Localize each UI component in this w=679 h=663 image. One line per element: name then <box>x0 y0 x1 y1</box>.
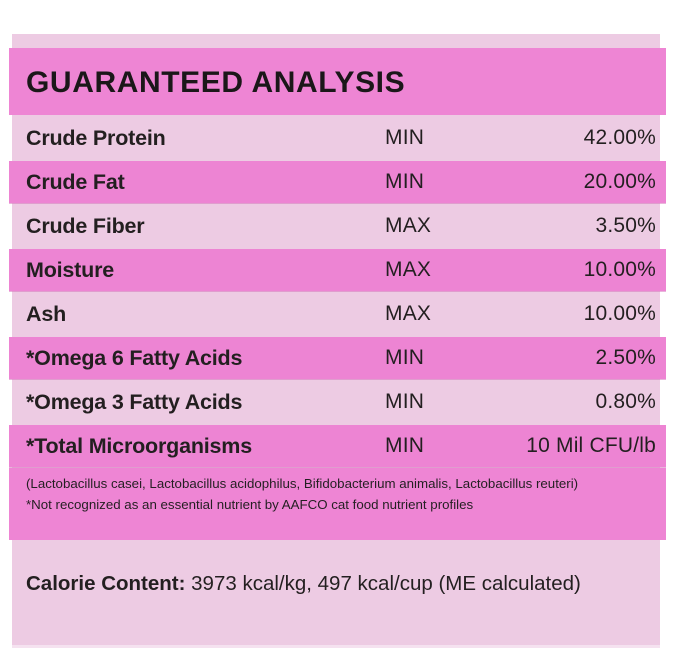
nutrient-qualifier: MAX <box>385 258 431 282</box>
page-title: GUARANTEED ANALYSIS <box>26 66 405 100</box>
nutrient-qualifier: MIN <box>385 390 424 414</box>
nutrient-amount: 2.50% <box>595 346 656 370</box>
nutrient-qualifier: MIN <box>385 170 424 194</box>
calorie-content-value: 3973 kcal/kg, 497 kcal/cup (ME calculate… <box>191 572 581 595</box>
panel-bottom-edge <box>12 645 662 649</box>
nutrient-name: Moisture <box>26 258 114 283</box>
nutrient-amount: 42.00% <box>584 126 656 150</box>
guaranteed-analysis-label: GUARANTEED ANALYSIS Crude ProteinMIN42.0… <box>0 0 679 663</box>
nutrient-name: *Omega 3 Fatty Acids <box>26 390 242 415</box>
table-row: *Omega 6 Fatty AcidsMIN2.50% <box>12 336 660 380</box>
nutrient-amount: 10.00% <box>584 302 656 326</box>
table-row: *Omega 3 Fatty AcidsMIN0.80% <box>12 380 660 424</box>
footnote-aafco-disclaimer: *Not recognized as an essential nutrient… <box>26 494 646 515</box>
nutrient-name: *Total Microorganisms <box>26 434 252 459</box>
table-row: *Total MicroorganismsMIN10 Mil CFU/lb <box>12 424 660 468</box>
nutrient-qualifier: MAX <box>385 214 431 238</box>
table-row: Crude ProteinMIN42.00% <box>12 116 660 160</box>
nutrient-name: Crude Fat <box>26 170 125 195</box>
nutrient-qualifier: MIN <box>385 126 424 150</box>
nutrient-name: Crude Protein <box>26 126 166 151</box>
footnote-microorganism-species: (Lactobacillus casei, Lactobacillus acid… <box>26 473 646 494</box>
nutrient-qualifier: MIN <box>385 346 424 370</box>
nutrient-qualifier: MIN <box>385 434 424 458</box>
table-row: MoistureMAX10.00% <box>12 248 660 292</box>
nutrient-amount: 10.00% <box>584 258 656 282</box>
calorie-content-label: Calorie Content: <box>26 572 185 595</box>
nutrient-name: Crude Fiber <box>26 214 144 239</box>
nutrient-amount: 10 Mil CFU/lb <box>526 434 656 458</box>
table-row: AshMAX10.00% <box>12 292 660 336</box>
nutrient-amount: 20.00% <box>584 170 656 194</box>
nutrient-name: *Omega 6 Fatty Acids <box>26 346 242 371</box>
calorie-content: Calorie Content: 3973 kcal/kg, 497 kcal/… <box>26 572 581 596</box>
nutrient-name: Ash <box>26 302 66 327</box>
nutrient-amount: 3.50% <box>595 214 656 238</box>
footnotes: (Lactobacillus casei, Lactobacillus acid… <box>26 473 646 515</box>
nutrient-amount: 0.80% <box>595 390 656 414</box>
nutrient-qualifier: MAX <box>385 302 431 326</box>
table-row: Crude FiberMAX3.50% <box>12 204 660 248</box>
table-row: Crude FatMIN20.00% <box>12 160 660 204</box>
